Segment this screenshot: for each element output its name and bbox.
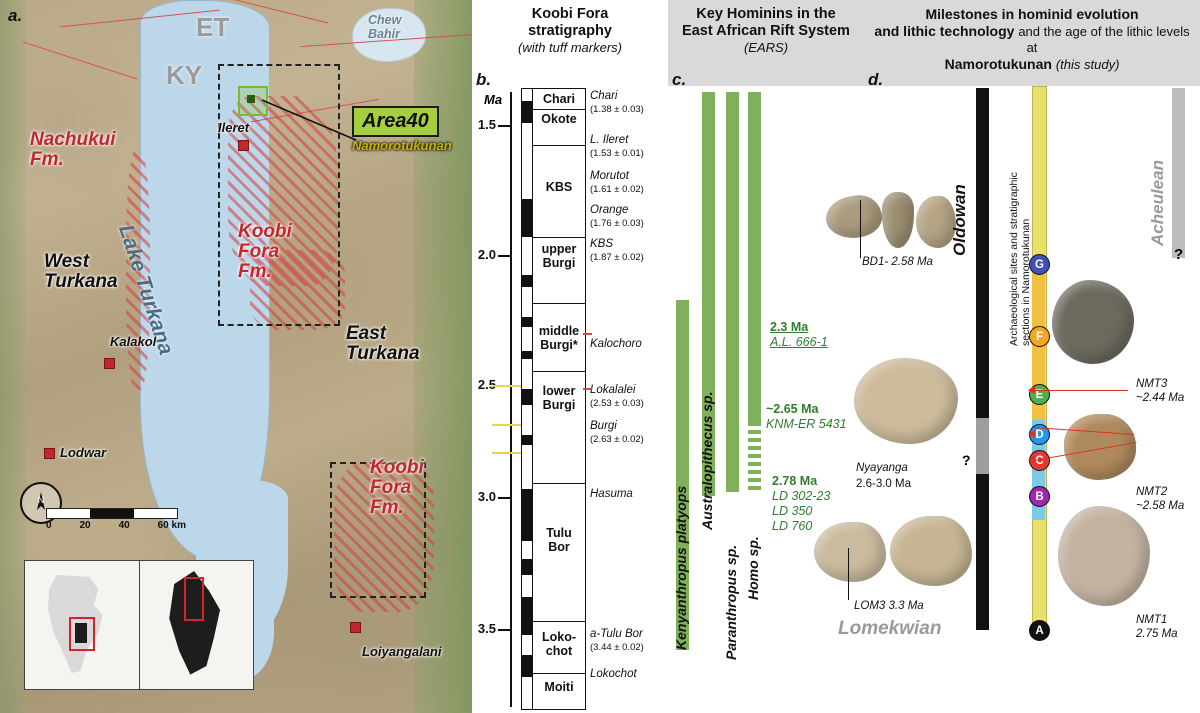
axis-ticklabel-3-0: 3.0 [470,489,496,504]
label-koobi-fora-fm-south: KoobiForaFm. [370,458,424,518]
nmt3-age: ~2.44 Ma [1136,392,1184,404]
member-cell-moiti: Moiti [533,681,585,695]
nmt1-name: NMT1 [1136,614,1167,626]
town-label-lodwar: Lodwar [60,445,106,460]
town-dot-kalakol [104,358,115,369]
uncertainty-mark-acheulean: ? [1174,246,1183,263]
lom3-leader [848,548,849,600]
country-code-ky: KY [166,60,202,91]
time-axis-line [510,92,512,707]
tuff-lokochot: Lokochot [590,668,637,681]
tuff-mark-kalochoro [583,333,592,335]
range-bar-homo [748,92,761,422]
panel-letter-c: c. [672,70,686,90]
taxon-label-paranthropus: Paranthropus sp. [723,420,739,660]
town-label-kalakol: Kalakol [110,334,156,349]
tuff-kbs: KBS(1.87 ± 0.02) [590,238,644,264]
header-d-line4: Namorotukunan [945,56,1052,72]
taxon-label-homo: Homo sp. [745,420,761,600]
panel-right-composite: Koobi Fora stratigraphy (with tuff marke… [472,0,1200,713]
header-c-title: Key Hominins in the East African Rift Sy… [668,0,864,57]
member-div-2 [533,145,585,146]
tuff-hasuma: Hasuma [590,488,633,501]
header-d-line2: and lithic technology [874,23,1014,39]
section-level-b[interactable]: B [1029,486,1050,507]
oldowan-uncertain-segment [976,418,989,474]
nmt2-name: NMT2 [1136,486,1167,498]
fossil-age-2: ~2.65 Ma [766,402,818,416]
member-div-6 [533,483,585,484]
taxon-label-kenyanthropus: Kenyanthropus platyops [673,300,689,650]
header-c-line1: Key Hominins in the [696,6,835,22]
dashed-box-north [218,64,340,326]
axis-unit-label: Ma [484,92,502,107]
artifact-lom3-1 [814,522,886,582]
header-c-subtitle: (EARS) [744,40,788,55]
section-axis-label: Archaeological sites and stratigraphic s… [1008,146,1032,346]
axis-ticklabel-3-5: 3.5 [470,621,496,636]
arrowhead-nmt2 [1028,430,1035,438]
tuff-orange: Orange(1.76 ± 0.03) [590,204,644,230]
section-level-f[interactable]: F [1029,326,1050,347]
header-b-line2: stratigraphy [528,23,612,39]
caption-nyayanga-age: 2.6-3.0 Ma [856,478,911,490]
fossil-age-1: 2.3 Ma [770,320,808,334]
label-nachukui-fm: NachukuiFm. [30,130,116,170]
scale-tick-2: 40 [119,520,130,531]
caption-lom3: LOM3 3.3 Ma [854,600,924,612]
artifact-nmt2 [1064,414,1136,480]
member-column: Chari Okote KBS upperBurgi middleBurgi* … [532,88,586,710]
tuff-morutot: Morutot(1.61 ± 0.02) [590,170,644,196]
header-b-subtitle: (with tuff markers) [518,40,622,55]
scale-tick-0: 0 [46,520,52,531]
town-dot-ileret [238,140,249,151]
fossil-note-1: 2.3 Ma A.L. 666-1 [770,320,828,350]
fossil-specimen-2: KNM-ER 5431 [766,417,847,431]
axis-tick-1-5 [498,125,510,127]
artifact-bd1-2 [882,192,914,248]
arrowhead-nmt3 [1028,386,1035,394]
area40-label: Area40 [352,106,439,137]
label-chew-bahir: ChewBahir [368,14,401,42]
member-cell-lower-burgi: lowerBurgi [533,385,585,413]
fossil-age-3: 2.78 Ma [772,474,817,488]
header-panel-b: Koobi Fora stratigraphy (with tuff marke… [472,0,668,86]
scale-tick-1: 20 [80,520,91,531]
caption-nyayanga: Nyayanga [856,462,908,474]
axis-ticklabel-2-0: 2.0 [470,247,496,262]
member-div-4 [533,303,585,304]
industry-bar-acheulean [1172,88,1185,258]
header-d-line1: Milestones in hominid evolution [925,6,1138,22]
tuff-a-tulu-bor: a-Tulu Bor(3.44 ± 0.02) [590,628,644,654]
town-label-loiyangalani: Loiyangalani [362,644,441,659]
inset-kenya-redbox [184,577,204,621]
bd1-leader [860,200,861,258]
tuff-marker-column: Chari(1.38 ± 0.03) L. Ileret(1.53 ± 0.01… [588,88,666,708]
town-dot-loiyangalani [350,622,361,633]
nmt3-name: NMT3 [1136,378,1167,390]
label-east-turkana: EastTurkana [346,324,420,364]
header-d-line3: and the age of the lithic levels at [1018,24,1189,56]
lithic-level-nmt2: NMT2 ~2.58 Ma [1136,486,1184,514]
svg-text:N: N [38,495,45,505]
nmt1-age: 2.75 Ma [1136,628,1178,640]
fossil-specimen-3: LD 302-23 LD 350 LD 760 [772,489,830,533]
inset-kenya [140,561,254,689]
inset-kenya-fill [75,623,87,643]
tuff-burgi: Burgi(2.63 ± 0.02) [590,420,644,446]
tuff-mark-lokalalei [583,388,592,390]
axis-tick-2-0 [498,255,510,257]
uncertainty-mark-oldowan: ? [962,452,971,468]
member-cell-middle-burgi: middleBurgi* [533,325,585,353]
axis-ticklabel-1-5: 1.5 [470,117,496,132]
lithic-level-nmt3: NMT3 ~2.44 Ma [1136,378,1184,406]
inset-locator-map [24,560,254,690]
tuff-kalochoro: Kalochoro [590,338,642,351]
fossil-note-2: ~2.65 Ma KNM-ER 5431 [766,402,847,432]
industry-label-lomekwian: Lomekwian [838,618,941,640]
taxon-label-australopithecus: Australopithecus sp. [699,300,715,530]
member-div-7 [533,621,585,622]
artifact-nyayanga [854,358,958,444]
industry-label-acheulean: Acheulean [1148,96,1168,246]
header-panel-d: Milestones in hominid evolution and lith… [864,0,1200,86]
header-d-italic: (this study) [1056,57,1120,72]
tuff-chari: Chari(1.38 ± 0.03) [590,90,644,116]
header-panel-c: Key Hominins in the East African Rift Sy… [668,0,864,86]
member-cell-kbs: KBS [533,181,585,195]
section-level-a[interactable]: A [1029,620,1050,641]
member-div-8 [533,673,585,674]
member-div-1 [533,109,585,110]
fossil-specimen-1: A.L. 666-1 [770,335,828,349]
section-level-g[interactable]: G [1029,254,1050,275]
panel-letter-d: d. [868,70,883,90]
header-b-title: Koobi Fora stratigraphy (with tuff marke… [472,0,668,57]
label-west-turkana: WestTurkana [44,252,118,292]
axis-tick-3-0 [498,497,510,499]
arrowhead-nmt1 [1028,456,1035,464]
country-code-et: ET [196,12,229,43]
member-cell-upper-burgi: upperBurgi [533,243,585,271]
map-scale-bar: 0 20 40 60 km [46,508,186,531]
fossil-note-3: 2.78 Ma LD 302-23 LD 350 LD 760 [772,474,830,534]
member-cell-chari: Chari [533,93,585,107]
tuff-l-ileret: L. Ileret(1.53 ± 0.01) [590,134,644,160]
industry-bar-oldowan [976,88,989,630]
member-cell-lokochot: Loko-chot [533,631,585,659]
town-dot-lodwar [44,448,55,459]
axis-tick-3-5 [498,629,510,631]
industry-label-oldowan: Oldowan [950,96,970,256]
panel-letter-b: b. [476,70,491,90]
inset-africa [25,561,140,689]
member-div-5 [533,371,585,372]
map-vegetation-west [0,0,26,713]
artifact-bd1-1 [823,192,884,241]
tuff-lokalalei: Lokalalei(2.53 ± 0.03) [590,384,644,410]
header-d-title: Milestones in hominid evolution and lith… [864,0,1200,72]
panel-a-map: Area40 Namorotukunan ET KY NachukuiFm. K… [0,0,472,713]
area40-site-dot [247,95,255,103]
member-cell-okote: Okote [533,113,585,127]
artifact-nmt1 [1058,506,1150,606]
scale-tick-3: 60 km [158,520,186,531]
arrow-nmt3 [1032,390,1128,391]
label-koobi-fora-fm-north: KoobiForaFm. [238,222,292,282]
figure-root: Area40 Namorotukunan ET KY NachukuiFm. K… [0,0,1200,713]
member-cell-tulu-bor: TuluBor [533,527,585,555]
town-label-ileret: Ileret [218,120,249,135]
member-div-3 [533,237,585,238]
panel-letter-a: a. [8,6,22,26]
artifact-nmt3 [1052,280,1134,364]
caption-bd1: BD1- 2.58 Ma [862,256,933,268]
namorotukunan-label: Namorotukunan [352,138,452,153]
border-line-4 [23,41,137,79]
lithic-level-nmt1: NMT1 2.75 Ma [1136,614,1178,642]
artifact-lom3-2 [890,516,972,586]
header-c-line2: East African Rift System [682,23,850,39]
nmt2-age: ~2.58 Ma [1136,500,1184,512]
header-b-line1: Koobi Fora [532,6,609,22]
